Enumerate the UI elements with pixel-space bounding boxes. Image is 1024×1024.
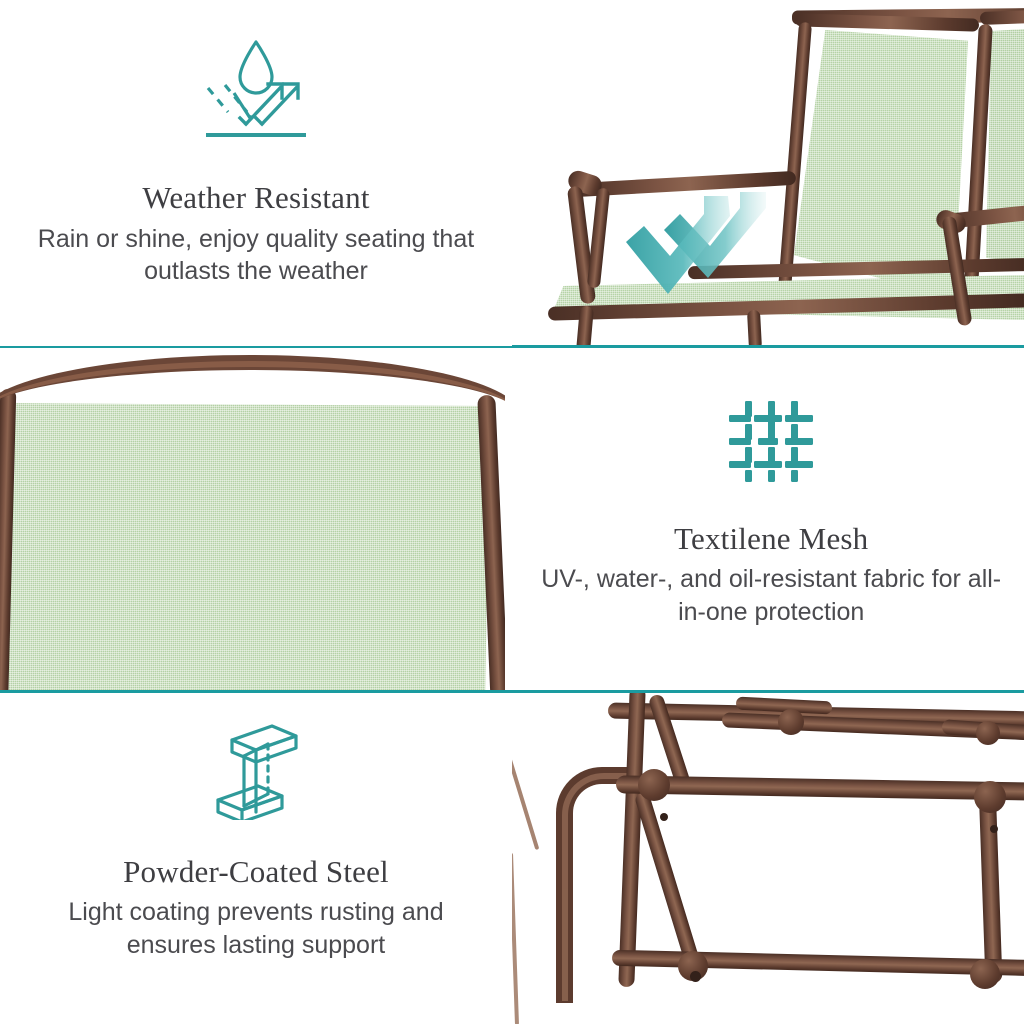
gliding-motion-arrows — [608, 186, 908, 316]
feature-title-textilene-mesh: Textilene Mesh — [674, 522, 868, 556]
feature-title-weather-resistant: Weather Resistant — [142, 181, 369, 215]
feature-row-powder-coated-steel: Powder-Coated Steel Light coating preven… — [0, 693, 1024, 1024]
feature-row-textilene-mesh: Textilene Mesh UV-, water-, and oil-resi… — [0, 349, 1024, 690]
woven-mesh-icon — [723, 393, 819, 494]
steel-glider-mechanism-closeup-photo — [512, 693, 1024, 1024]
water-repellent-icon — [192, 32, 320, 155]
patio-glider-loveseat-photo — [512, 0, 1024, 346]
feature-description-textilene-mesh: UV-, water-, and oil-resistant fabric fo… — [536, 563, 1006, 628]
feature-block-textilene-mesh: Textilene Mesh UV-, water-, and oil-resi… — [518, 349, 1024, 690]
feature-block-weather-resistant: Weather Resistant Rain or shine, enjoy q… — [0, 0, 512, 346]
mechanism-bottom-rail — [612, 950, 1024, 977]
glider-left-arm-brace — [587, 188, 610, 289]
glider-back-panel-right — [986, 26, 1024, 278]
mechanism-swing-arm-highlight — [512, 696, 539, 850]
feature-description-powder-coated-steel: Light coating prevents rusting and ensur… — [21, 896, 491, 961]
glider-left-leg — [576, 305, 594, 346]
mechanism-right-arm-highlight — [512, 853, 519, 1024]
mechanism-pivot-joint — [974, 781, 1006, 813]
mechanism-middle-rail — [616, 775, 1024, 800]
i-beam-icon — [210, 722, 302, 825]
mesh-panel-right-margin — [505, 395, 518, 690]
feature-description-weather-resistant: Rain or shine, enjoy quality seating tha… — [21, 223, 491, 288]
mechanism-pivot-joint — [976, 721, 1000, 745]
mechanism-pivot-joint — [778, 709, 804, 735]
mechanism-pivot-joint — [638, 769, 670, 801]
mechanism-bolt — [690, 971, 701, 982]
feature-row-weather-resistant: Weather Resistant Rain or shine, enjoy q… — [0, 0, 1024, 346]
product-feature-infographic: Weather Resistant Rain or shine, enjoy q… — [0, 0, 1024, 1024]
mesh-back-panel-closeup-photo — [0, 349, 518, 690]
feature-title-powder-coated-steel: Powder-Coated Steel — [123, 855, 389, 889]
feature-block-powder-coated-steel: Powder-Coated Steel Light coating preven… — [0, 693, 512, 1024]
mechanism-bolt — [660, 813, 668, 821]
mechanism-pivot-joint — [970, 959, 1000, 989]
mechanism-bolt — [990, 825, 998, 833]
textilene-fabric-surface — [0, 403, 490, 690]
